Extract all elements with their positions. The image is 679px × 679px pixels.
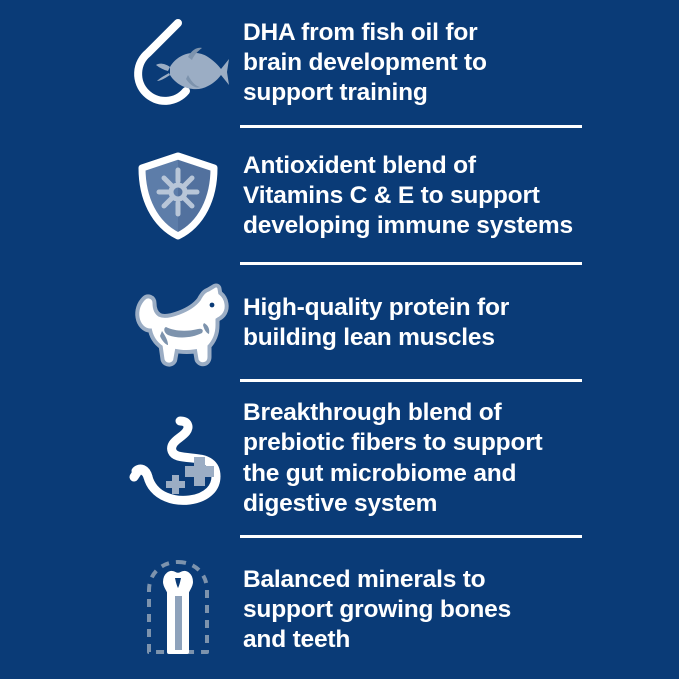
benefit-text: DHA from fish oil for brain development … [243, 18, 669, 108]
benefit-text: High-quality protein for building lean m… [243, 293, 669, 353]
divider [0, 125, 679, 128]
benefit-text: Balanced minerals to support growing bon… [243, 565, 669, 655]
benefit-row: DHA from fish oil for brain development … [0, 9, 679, 119]
benefit-row: Antioxident blend of Vitamins C & E to s… [0, 138, 679, 254]
divider-line [240, 262, 582, 265]
benefit-text-cell: High-quality protein for building lean m… [243, 293, 679, 353]
benefit-row: Balanced minerals to support growing bon… [0, 548, 679, 670]
benefits-infographic-panel: DHA from fish oil for brain development … [0, 0, 679, 679]
divider [0, 535, 679, 538]
fish-in-droplet-icon [113, 15, 243, 111]
benefit-text-cell: Balanced minerals to support growing bon… [243, 565, 679, 655]
divider-line [240, 125, 582, 128]
stomach-plus-icon [113, 413, 243, 505]
divider [0, 262, 679, 265]
benefit-row: Breakthrough blend of prebiotic fibers t… [0, 390, 679, 527]
benefit-row: High-quality protein for building lean m… [0, 273, 679, 373]
divider [0, 379, 679, 382]
benefit-text-cell: Antioxident blend of Vitamins C & E to s… [243, 151, 679, 241]
bone-dashed-icon [113, 556, 243, 664]
benefit-text: Antioxident blend of Vitamins C & E to s… [243, 151, 669, 241]
divider-line [240, 379, 582, 382]
benefit-text: Breakthrough blend of prebiotic fibers t… [243, 398, 669, 519]
dog-muscle-icon [113, 279, 243, 367]
benefit-text-cell: Breakthrough blend of prebiotic fibers t… [243, 398, 679, 519]
shield-burst-icon [113, 146, 243, 246]
divider-line [240, 535, 582, 538]
benefit-text-cell: DHA from fish oil for brain development … [243, 18, 679, 108]
